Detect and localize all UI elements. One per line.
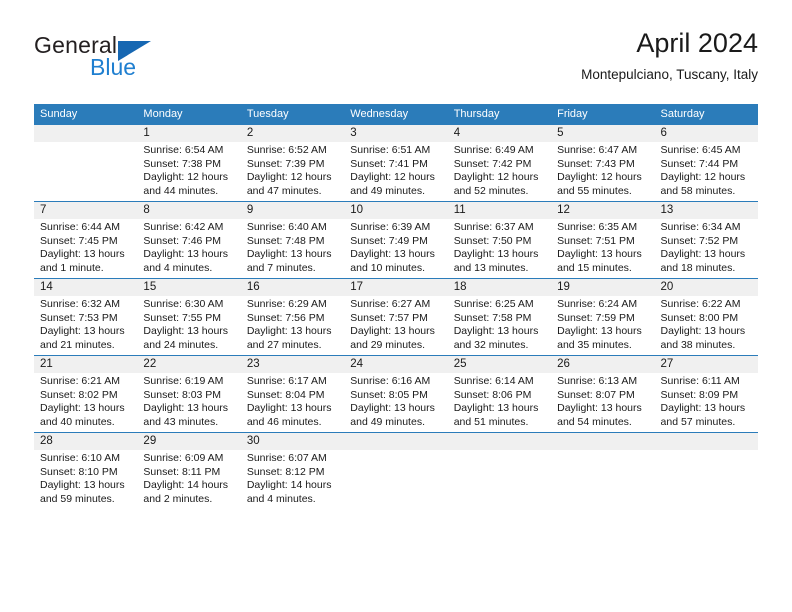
day-details: Sunrise: 6:14 AM Sunset: 8:06 PM Dayligh… [448,373,551,429]
daylight-text-line1: Daylight: 12 hours [247,171,338,185]
day-number [34,125,137,142]
day-cell[interactable]: 21 Sunrise: 6:21 AM Sunset: 8:02 PM Dayl… [34,356,137,432]
sunrise-text: Sunrise: 6:44 AM [40,221,131,235]
weekday-header-saturday: Saturday [655,104,758,124]
day-number: 1 [137,125,240,142]
day-number: 14 [34,279,137,296]
sunset-text: Sunset: 8:00 PM [661,312,752,326]
daylight-text-line2: and 2 minutes. [143,493,234,507]
day-cell[interactable]: 16 Sunrise: 6:29 AM Sunset: 7:56 PM Dayl… [241,279,344,355]
day-details: Sunrise: 6:07 AM Sunset: 8:12 PM Dayligh… [241,450,344,506]
daylight-text-line2: and 4 minutes. [143,262,234,276]
daylight-text-line1: Daylight: 12 hours [454,171,545,185]
daylight-text-line2: and 15 minutes. [557,262,648,276]
daylight-text-line2: and 57 minutes. [661,416,752,430]
sunset-text: Sunset: 8:11 PM [143,466,234,480]
daylight-text-line1: Daylight: 13 hours [454,402,545,416]
day-number: 2 [241,125,344,142]
day-number [551,433,654,450]
day-cell[interactable]: 25 Sunrise: 6:14 AM Sunset: 8:06 PM Dayl… [448,356,551,432]
daylight-text-line2: and 58 minutes. [661,185,752,199]
sunrise-text: Sunrise: 6:11 AM [661,375,752,389]
day-number: 5 [551,125,654,142]
day-cell[interactable]: 27 Sunrise: 6:11 AM Sunset: 8:09 PM Dayl… [655,356,758,432]
daylight-text-line1: Daylight: 13 hours [247,325,338,339]
daylight-text-line1: Daylight: 12 hours [557,171,648,185]
sunrise-text: Sunrise: 6:51 AM [350,144,441,158]
daylight-text-line1: Daylight: 13 hours [143,402,234,416]
day-number: 4 [448,125,551,142]
daylight-text-line2: and 32 minutes. [454,339,545,353]
sunset-text: Sunset: 8:02 PM [40,389,131,403]
sunrise-text: Sunrise: 6:40 AM [247,221,338,235]
sunrise-text: Sunrise: 6:35 AM [557,221,648,235]
daylight-text-line1: Daylight: 13 hours [350,325,441,339]
page-header: General Blue April 2024 Montepulciano, T… [34,26,758,94]
daylight-text-line2: and 51 minutes. [454,416,545,430]
sunset-text: Sunset: 7:46 PM [143,235,234,249]
day-details: Sunrise: 6:37 AM Sunset: 7:50 PM Dayligh… [448,219,551,275]
sunset-text: Sunset: 7:59 PM [557,312,648,326]
day-cell[interactable]: 17 Sunrise: 6:27 AM Sunset: 7:57 PM Dayl… [344,279,447,355]
day-cell[interactable]: 15 Sunrise: 6:30 AM Sunset: 7:55 PM Dayl… [137,279,240,355]
day-cell[interactable]: 18 Sunrise: 6:25 AM Sunset: 7:58 PM Dayl… [448,279,551,355]
sunset-text: Sunset: 7:38 PM [143,158,234,172]
day-number [344,433,447,450]
daylight-text-line1: Daylight: 12 hours [143,171,234,185]
daylight-text-line1: Daylight: 13 hours [350,248,441,262]
calendar-week-row: 21 Sunrise: 6:21 AM Sunset: 8:02 PM Dayl… [34,355,758,432]
day-details: Sunrise: 6:13 AM Sunset: 8:07 PM Dayligh… [551,373,654,429]
day-details: Sunrise: 6:39 AM Sunset: 7:49 PM Dayligh… [344,219,447,275]
daylight-text-line2: and 29 minutes. [350,339,441,353]
day-number: 22 [137,356,240,373]
day-details: Sunrise: 6:11 AM Sunset: 8:09 PM Dayligh… [655,373,758,429]
day-details: Sunrise: 6:49 AM Sunset: 7:42 PM Dayligh… [448,142,551,198]
day-details: Sunrise: 6:27 AM Sunset: 7:57 PM Dayligh… [344,296,447,352]
calendar-week-row: 14 Sunrise: 6:32 AM Sunset: 7:53 PM Dayl… [34,278,758,355]
sunrise-text: Sunrise: 6:37 AM [454,221,545,235]
daylight-text-line2: and 21 minutes. [40,339,131,353]
day-cell[interactable]: 13 Sunrise: 6:34 AM Sunset: 7:52 PM Dayl… [655,202,758,278]
daylight-text-line2: and 55 minutes. [557,185,648,199]
weekday-header-thursday: Thursday [448,104,551,124]
calendar-table: Sunday Monday Tuesday Wednesday Thursday… [34,104,758,509]
day-details: Sunrise: 6:17 AM Sunset: 8:04 PM Dayligh… [241,373,344,429]
day-cell[interactable]: 24 Sunrise: 6:16 AM Sunset: 8:05 PM Dayl… [344,356,447,432]
daylight-text-line1: Daylight: 12 hours [661,171,752,185]
daylight-text-line2: and 1 minute. [40,262,131,276]
day-cell[interactable] [655,433,758,509]
day-number: 20 [655,279,758,296]
day-number: 16 [241,279,344,296]
day-number: 30 [241,433,344,450]
daylight-text-line1: Daylight: 13 hours [40,402,131,416]
sunset-text: Sunset: 7:39 PM [247,158,338,172]
day-cell[interactable]: 7 Sunrise: 6:44 AM Sunset: 7:45 PM Dayli… [34,202,137,278]
day-cell[interactable] [34,125,137,201]
daylight-text-line1: Daylight: 13 hours [557,248,648,262]
page-subtitle: Montepulciano, Tuscany, Italy [581,64,758,86]
day-number: 9 [241,202,344,219]
sunrise-text: Sunrise: 6:49 AM [454,144,545,158]
day-details: Sunrise: 6:54 AM Sunset: 7:38 PM Dayligh… [137,142,240,198]
sunrise-text: Sunrise: 6:45 AM [661,144,752,158]
sunset-text: Sunset: 7:50 PM [454,235,545,249]
day-number: 28 [34,433,137,450]
daylight-text-line1: Daylight: 13 hours [40,325,131,339]
sunset-text: Sunset: 7:51 PM [557,235,648,249]
day-details: Sunrise: 6:29 AM Sunset: 7:56 PM Dayligh… [241,296,344,352]
day-details: Sunrise: 6:42 AM Sunset: 7:46 PM Dayligh… [137,219,240,275]
sunrise-text: Sunrise: 6:09 AM [143,452,234,466]
sunset-text: Sunset: 8:10 PM [40,466,131,480]
day-number: 6 [655,125,758,142]
day-number: 12 [551,202,654,219]
sunrise-text: Sunrise: 6:54 AM [143,144,234,158]
sunrise-text: Sunrise: 6:16 AM [350,375,441,389]
daylight-text-line1: Daylight: 13 hours [143,325,234,339]
daylight-text-line1: Daylight: 13 hours [40,479,131,493]
day-cell[interactable]: 1 Sunrise: 6:54 AM Sunset: 7:38 PM Dayli… [137,125,240,201]
sunrise-text: Sunrise: 6:30 AM [143,298,234,312]
day-cell[interactable]: 2 Sunrise: 6:52 AM Sunset: 7:39 PM Dayli… [241,125,344,201]
general-blue-logo[interactable]: General Blue [34,32,214,88]
day-cell[interactable]: 22 Sunrise: 6:19 AM Sunset: 8:03 PM Dayl… [137,356,240,432]
day-number: 10 [344,202,447,219]
sunset-text: Sunset: 7:44 PM [661,158,752,172]
sunset-text: Sunset: 7:52 PM [661,235,752,249]
sunset-text: Sunset: 7:53 PM [40,312,131,326]
daylight-text-line2: and 59 minutes. [40,493,131,507]
sunrise-text: Sunrise: 6:29 AM [247,298,338,312]
sunset-text: Sunset: 7:58 PM [454,312,545,326]
sunrise-text: Sunrise: 6:47 AM [557,144,648,158]
sunset-text: Sunset: 8:09 PM [661,389,752,403]
day-details: Sunrise: 6:32 AM Sunset: 7:53 PM Dayligh… [34,296,137,352]
sunrise-text: Sunrise: 6:17 AM [247,375,338,389]
sunrise-text: Sunrise: 6:10 AM [40,452,131,466]
day-details: Sunrise: 6:34 AM Sunset: 7:52 PM Dayligh… [655,219,758,275]
day-details: Sunrise: 6:21 AM Sunset: 8:02 PM Dayligh… [34,373,137,429]
sunset-text: Sunset: 8:06 PM [454,389,545,403]
sunrise-text: Sunrise: 6:24 AM [557,298,648,312]
day-cell[interactable]: 10 Sunrise: 6:39 AM Sunset: 7:49 PM Dayl… [344,202,447,278]
day-number: 13 [655,202,758,219]
weekday-header-friday: Friday [551,104,654,124]
day-cell[interactable] [344,433,447,509]
daylight-text-line2: and 47 minutes. [247,185,338,199]
daylight-text-line1: Daylight: 13 hours [247,248,338,262]
daylight-text-line2: and 35 minutes. [557,339,648,353]
daylight-text-line2: and 24 minutes. [143,339,234,353]
day-number: 3 [344,125,447,142]
day-details: Sunrise: 6:16 AM Sunset: 8:05 PM Dayligh… [344,373,447,429]
sunset-text: Sunset: 7:48 PM [247,235,338,249]
sunrise-text: Sunrise: 6:14 AM [454,375,545,389]
sunset-text: Sunset: 8:04 PM [247,389,338,403]
daylight-text-line2: and 54 minutes. [557,416,648,430]
sunrise-text: Sunrise: 6:39 AM [350,221,441,235]
daylight-text-line1: Daylight: 12 hours [350,171,441,185]
daylight-text-line1: Daylight: 13 hours [143,248,234,262]
day-details [344,450,447,452]
sunrise-text: Sunrise: 6:27 AM [350,298,441,312]
day-details: Sunrise: 6:24 AM Sunset: 7:59 PM Dayligh… [551,296,654,352]
daylight-text-line2: and 46 minutes. [247,416,338,430]
day-cell[interactable]: 19 Sunrise: 6:24 AM Sunset: 7:59 PM Dayl… [551,279,654,355]
day-cell[interactable]: 8 Sunrise: 6:42 AM Sunset: 7:46 PM Dayli… [137,202,240,278]
day-cell[interactable]: 28 Sunrise: 6:10 AM Sunset: 8:10 PM Dayl… [34,433,137,509]
sunrise-text: Sunrise: 6:32 AM [40,298,131,312]
calendar-week-row: 1 Sunrise: 6:54 AM Sunset: 7:38 PM Dayli… [34,124,758,201]
daylight-text-line1: Daylight: 13 hours [247,402,338,416]
daylight-text-line2: and 43 minutes. [143,416,234,430]
sunset-text: Sunset: 7:49 PM [350,235,441,249]
day-details: Sunrise: 6:30 AM Sunset: 7:55 PM Dayligh… [137,296,240,352]
sunrise-text: Sunrise: 6:42 AM [143,221,234,235]
daylight-text-line2: and 52 minutes. [454,185,545,199]
sunrise-text: Sunrise: 6:19 AM [143,375,234,389]
day-cell[interactable]: 6 Sunrise: 6:45 AM Sunset: 7:44 PM Dayli… [655,125,758,201]
sunset-text: Sunset: 8:12 PM [247,466,338,480]
sunrise-text: Sunrise: 6:21 AM [40,375,131,389]
day-details: Sunrise: 6:52 AM Sunset: 7:39 PM Dayligh… [241,142,344,198]
weekday-header-tuesday: Tuesday [241,104,344,124]
day-number: 19 [551,279,654,296]
day-number: 7 [34,202,137,219]
daylight-text-line2: and 7 minutes. [247,262,338,276]
weekday-header-wednesday: Wednesday [344,104,447,124]
daylight-text-line1: Daylight: 13 hours [557,402,648,416]
sunset-text: Sunset: 7:43 PM [557,158,648,172]
daylight-text-line1: Daylight: 13 hours [557,325,648,339]
daylight-text-line2: and 18 minutes. [661,262,752,276]
day-number: 24 [344,356,447,373]
day-number: 26 [551,356,654,373]
day-cell[interactable]: 5 Sunrise: 6:47 AM Sunset: 7:43 PM Dayli… [551,125,654,201]
day-details: Sunrise: 6:19 AM Sunset: 8:03 PM Dayligh… [137,373,240,429]
daylight-text-line1: Daylight: 13 hours [661,402,752,416]
daylight-text-line1: Daylight: 14 hours [143,479,234,493]
day-cell[interactable]: 11 Sunrise: 6:37 AM Sunset: 7:50 PM Dayl… [448,202,551,278]
day-cell[interactable]: 12 Sunrise: 6:35 AM Sunset: 7:51 PM Dayl… [551,202,654,278]
day-number: 21 [34,356,137,373]
calendar-week-row: 28 Sunrise: 6:10 AM Sunset: 8:10 PM Dayl… [34,432,758,509]
day-number: 29 [137,433,240,450]
daylight-text-line1: Daylight: 13 hours [454,248,545,262]
day-number: 11 [448,202,551,219]
day-cell[interactable]: 26 Sunrise: 6:13 AM Sunset: 8:07 PM Dayl… [551,356,654,432]
day-cell[interactable]: 23 Sunrise: 6:17 AM Sunset: 8:04 PM Dayl… [241,356,344,432]
day-cell[interactable]: 9 Sunrise: 6:40 AM Sunset: 7:48 PM Dayli… [241,202,344,278]
day-details: Sunrise: 6:22 AM Sunset: 8:00 PM Dayligh… [655,296,758,352]
daylight-text-line2: and 4 minutes. [247,493,338,507]
day-cell[interactable]: 3 Sunrise: 6:51 AM Sunset: 7:41 PM Dayli… [344,125,447,201]
day-number: 23 [241,356,344,373]
sunset-text: Sunset: 7:41 PM [350,158,441,172]
day-details: Sunrise: 6:10 AM Sunset: 8:10 PM Dayligh… [34,450,137,506]
day-details: Sunrise: 6:40 AM Sunset: 7:48 PM Dayligh… [241,219,344,275]
sunrise-text: Sunrise: 6:22 AM [661,298,752,312]
daylight-text-line2: and 13 minutes. [454,262,545,276]
day-cell[interactable]: 4 Sunrise: 6:49 AM Sunset: 7:42 PM Dayli… [448,125,551,201]
daylight-text-line1: Daylight: 14 hours [247,479,338,493]
sunrise-text: Sunrise: 6:13 AM [557,375,648,389]
daylight-text-line1: Daylight: 13 hours [350,402,441,416]
weekday-header-monday: Monday [137,104,240,124]
day-details [448,450,551,452]
weekday-header-row: Sunday Monday Tuesday Wednesday Thursday… [34,104,758,124]
day-cell[interactable]: 30 Sunrise: 6:07 AM Sunset: 8:12 PM Dayl… [241,433,344,509]
day-number: 18 [448,279,551,296]
day-details [34,142,137,144]
day-cell[interactable]: 29 Sunrise: 6:09 AM Sunset: 8:11 PM Dayl… [137,433,240,509]
daylight-text-line2: and 49 minutes. [350,185,441,199]
day-details: Sunrise: 6:09 AM Sunset: 8:11 PM Dayligh… [137,450,240,506]
day-details: Sunrise: 6:45 AM Sunset: 7:44 PM Dayligh… [655,142,758,198]
sunrise-text: Sunrise: 6:52 AM [247,144,338,158]
day-details: Sunrise: 6:25 AM Sunset: 7:58 PM Dayligh… [448,296,551,352]
day-cell[interactable] [448,433,551,509]
sunrise-text: Sunrise: 6:07 AM [247,452,338,466]
daylight-text-line2: and 10 minutes. [350,262,441,276]
daylight-text-line1: Daylight: 13 hours [454,325,545,339]
day-number: 25 [448,356,551,373]
day-details [655,450,758,452]
daylight-text-line2: and 27 minutes. [247,339,338,353]
sunrise-text: Sunrise: 6:25 AM [454,298,545,312]
sunset-text: Sunset: 8:05 PM [350,389,441,403]
day-cell[interactable]: 14 Sunrise: 6:32 AM Sunset: 7:53 PM Dayl… [34,279,137,355]
sunset-text: Sunset: 7:55 PM [143,312,234,326]
sunset-text: Sunset: 7:57 PM [350,312,441,326]
day-cell[interactable] [551,433,654,509]
daylight-text-line1: Daylight: 13 hours [661,248,752,262]
sunset-text: Sunset: 7:45 PM [40,235,131,249]
daylight-text-line2: and 44 minutes. [143,185,234,199]
calendar-week-row: 7 Sunrise: 6:44 AM Sunset: 7:45 PM Dayli… [34,201,758,278]
title-block: April 2024 Montepulciano, Tuscany, Italy [581,26,758,86]
day-details [551,450,654,452]
day-number [655,433,758,450]
sunrise-text: Sunrise: 6:34 AM [661,221,752,235]
day-number: 27 [655,356,758,373]
day-number: 15 [137,279,240,296]
sunset-text: Sunset: 7:42 PM [454,158,545,172]
sunset-text: Sunset: 7:56 PM [247,312,338,326]
weekday-header-sunday: Sunday [34,104,137,124]
page-title: April 2024 [581,26,758,60]
sunset-text: Sunset: 8:07 PM [557,389,648,403]
daylight-text-line1: Daylight: 13 hours [661,325,752,339]
day-details: Sunrise: 6:44 AM Sunset: 7:45 PM Dayligh… [34,219,137,275]
daylight-text-line2: and 49 minutes. [350,416,441,430]
daylight-text-line1: Daylight: 13 hours [40,248,131,262]
day-number: 8 [137,202,240,219]
calendar-page: General Blue April 2024 Montepulciano, T… [0,0,792,612]
day-number [448,433,551,450]
day-details: Sunrise: 6:35 AM Sunset: 7:51 PM Dayligh… [551,219,654,275]
daylight-text-line2: and 38 minutes. [661,339,752,353]
logo-text-blue: Blue [90,54,136,81]
day-details: Sunrise: 6:47 AM Sunset: 7:43 PM Dayligh… [551,142,654,198]
day-number: 17 [344,279,447,296]
day-cell[interactable]: 20 Sunrise: 6:22 AM Sunset: 8:00 PM Dayl… [655,279,758,355]
daylight-text-line2: and 40 minutes. [40,416,131,430]
sunset-text: Sunset: 8:03 PM [143,389,234,403]
day-details: Sunrise: 6:51 AM Sunset: 7:41 PM Dayligh… [344,142,447,198]
